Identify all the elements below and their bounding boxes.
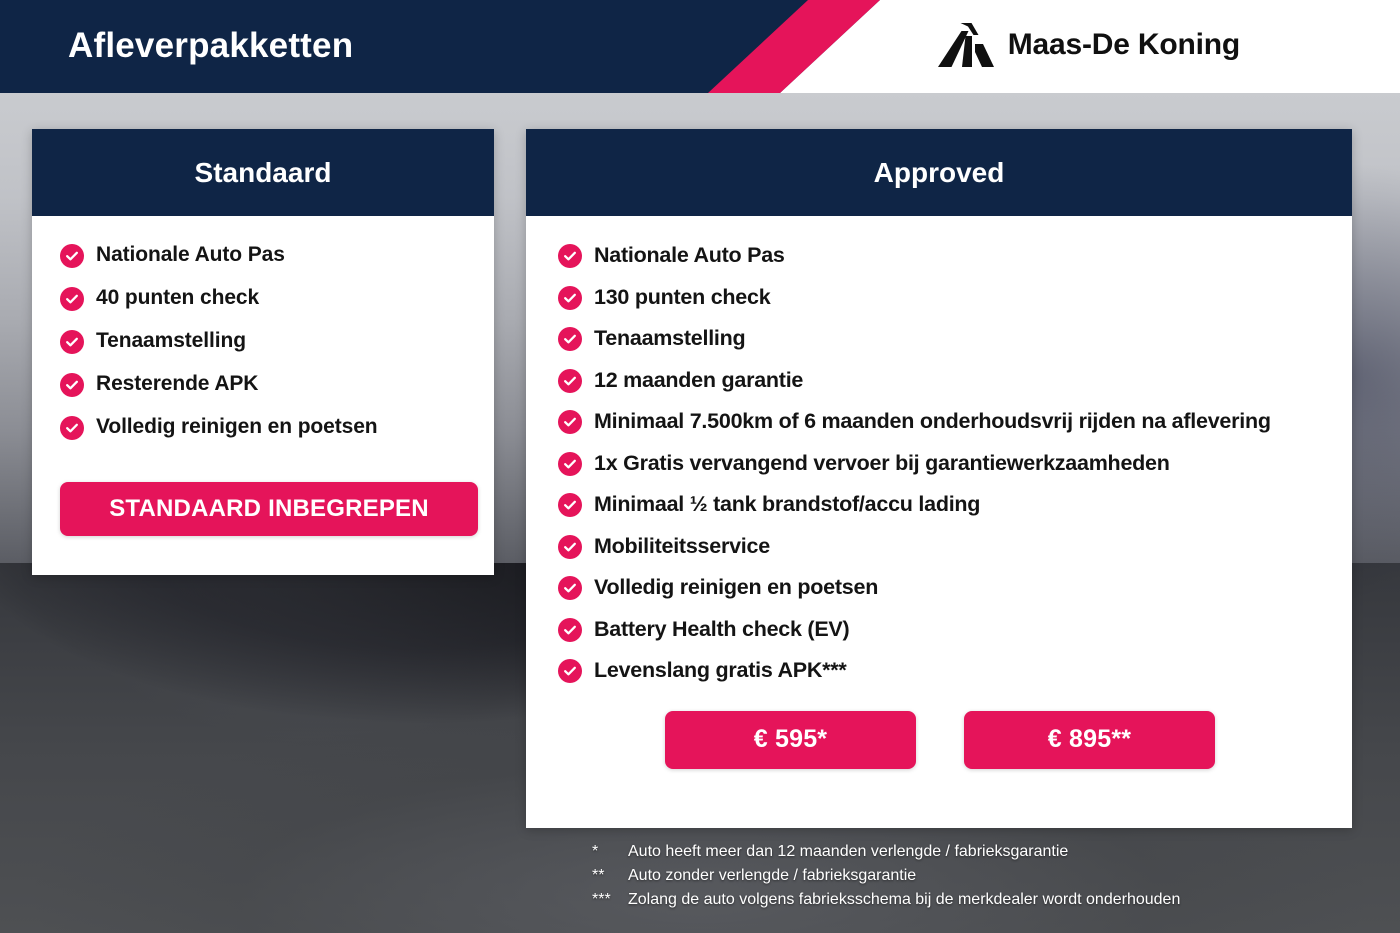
package-title-approved: Approved bbox=[526, 129, 1352, 216]
brand-name: Maas-De Koning bbox=[1008, 28, 1240, 62]
check-circle-icon bbox=[558, 535, 582, 559]
feature-label: Volledig reinigen en poetsen bbox=[594, 574, 878, 602]
feature-label: Minimaal ½ tank brandstof/accu lading bbox=[594, 491, 980, 519]
list-item: * Auto heeft meer dan 12 maanden verleng… bbox=[592, 840, 1352, 864]
check-circle-icon bbox=[558, 369, 582, 393]
price-button-row: € 595* € 895** bbox=[558, 711, 1322, 769]
footnote-marker: *** bbox=[592, 888, 628, 912]
price-button-895[interactable]: € 895** bbox=[964, 711, 1215, 769]
brand-logo: Maas-De Koning bbox=[938, 22, 1240, 68]
check-circle-icon bbox=[558, 452, 582, 476]
footnote-text: Auto zonder verlengde / fabrieksgarantie bbox=[628, 864, 916, 888]
list-item: Minimaal 7.500km of 6 maanden onderhouds… bbox=[558, 408, 1322, 436]
feature-label: 1x Gratis vervangend vervoer bij garanti… bbox=[594, 450, 1170, 478]
list-item: Battery Health check (EV) bbox=[558, 616, 1322, 644]
check-circle-icon bbox=[558, 410, 582, 434]
feature-label: Mobiliteitsservice bbox=[594, 533, 770, 561]
feature-label: Tenaamstelling bbox=[594, 325, 745, 353]
footnote-marker: * bbox=[592, 840, 628, 864]
list-item: Nationale Auto Pas bbox=[60, 242, 466, 269]
feature-label: Nationale Auto Pas bbox=[594, 242, 785, 270]
maas-de-koning-m-mark-icon bbox=[938, 22, 994, 68]
feature-label: 130 punten check bbox=[594, 284, 770, 312]
list-item: Nationale Auto Pas bbox=[558, 242, 1322, 270]
page-header: Afleverpakketten Maas-De Koning bbox=[0, 0, 1400, 93]
footnote-text: Zolang de auto volgens fabrieksschema bi… bbox=[628, 888, 1180, 912]
check-circle-icon bbox=[558, 659, 582, 683]
footnote-text: Auto heeft meer dan 12 maanden verlengde… bbox=[628, 840, 1068, 864]
list-item: Volledig reinigen en poetsen bbox=[558, 574, 1322, 602]
feature-label: Volledig reinigen en poetsen bbox=[96, 414, 378, 441]
check-circle-icon bbox=[60, 244, 84, 268]
list-item: Minimaal ½ tank brandstof/accu lading bbox=[558, 491, 1322, 519]
feature-label: Battery Health check (EV) bbox=[594, 616, 849, 644]
package-body-approved: Nationale Auto Pas 130 punten check Tena… bbox=[526, 216, 1352, 769]
check-circle-icon bbox=[558, 286, 582, 310]
check-circle-icon bbox=[60, 416, 84, 440]
package-card-approved: Approved Nationale Auto Pas 130 punten c… bbox=[526, 129, 1352, 828]
footnotes: * Auto heeft meer dan 12 maanden verleng… bbox=[592, 840, 1352, 912]
feature-label: Levenslang gratis APK*** bbox=[594, 657, 846, 685]
standaard-inbegrepen-button[interactable]: STANDAARD INBEGREPEN bbox=[60, 482, 478, 536]
list-item: *** Zolang de auto volgens fabrieksschem… bbox=[592, 888, 1352, 912]
feature-list-approved: Nationale Auto Pas 130 punten check Tena… bbox=[558, 242, 1322, 685]
package-card-standaard: Standaard Nationale Auto Pas 40 punten c… bbox=[32, 129, 494, 575]
footnote-marker: ** bbox=[592, 864, 628, 888]
list-item: Tenaamstelling bbox=[558, 325, 1322, 353]
feature-label: 40 punten check bbox=[96, 285, 259, 312]
list-item: 1x Gratis vervangend vervoer bij garanti… bbox=[558, 450, 1322, 478]
list-item: 130 punten check bbox=[558, 284, 1322, 312]
price-button-595[interactable]: € 595* bbox=[665, 711, 916, 769]
check-circle-icon bbox=[558, 244, 582, 268]
check-circle-icon bbox=[558, 327, 582, 351]
list-item: Levenslang gratis APK*** bbox=[558, 657, 1322, 685]
feature-label: Minimaal 7.500km of 6 maanden onderhouds… bbox=[594, 408, 1271, 436]
package-body-standaard: Nationale Auto Pas 40 punten check Tenaa… bbox=[32, 216, 494, 536]
check-circle-icon bbox=[60, 287, 84, 311]
list-item: Volledig reinigen en poetsen bbox=[60, 414, 466, 441]
check-circle-icon bbox=[60, 373, 84, 397]
list-item: Resterende APK bbox=[60, 371, 466, 398]
feature-label: Nationale Auto Pas bbox=[96, 242, 285, 269]
page-title: Afleverpakketten bbox=[68, 20, 353, 72]
check-circle-icon bbox=[60, 330, 84, 354]
feature-list-standaard: Nationale Auto Pas 40 punten check Tenaa… bbox=[60, 242, 466, 440]
list-item: 12 maanden garantie bbox=[558, 367, 1322, 395]
feature-label: 12 maanden garantie bbox=[594, 367, 803, 395]
check-circle-icon bbox=[558, 618, 582, 642]
check-circle-icon bbox=[558, 493, 582, 517]
feature-label: Resterende APK bbox=[96, 371, 258, 398]
page-root: Afleverpakketten Maas-De Koning Standaar… bbox=[0, 0, 1400, 933]
list-item: 40 punten check bbox=[60, 285, 466, 312]
list-item: Mobiliteitsservice bbox=[558, 533, 1322, 561]
package-title-standaard: Standaard bbox=[32, 129, 494, 216]
list-item: ** Auto zonder verlengde / fabrieksgaran… bbox=[592, 864, 1352, 888]
feature-label: Tenaamstelling bbox=[96, 328, 246, 355]
list-item: Tenaamstelling bbox=[60, 328, 466, 355]
check-circle-icon bbox=[558, 576, 582, 600]
